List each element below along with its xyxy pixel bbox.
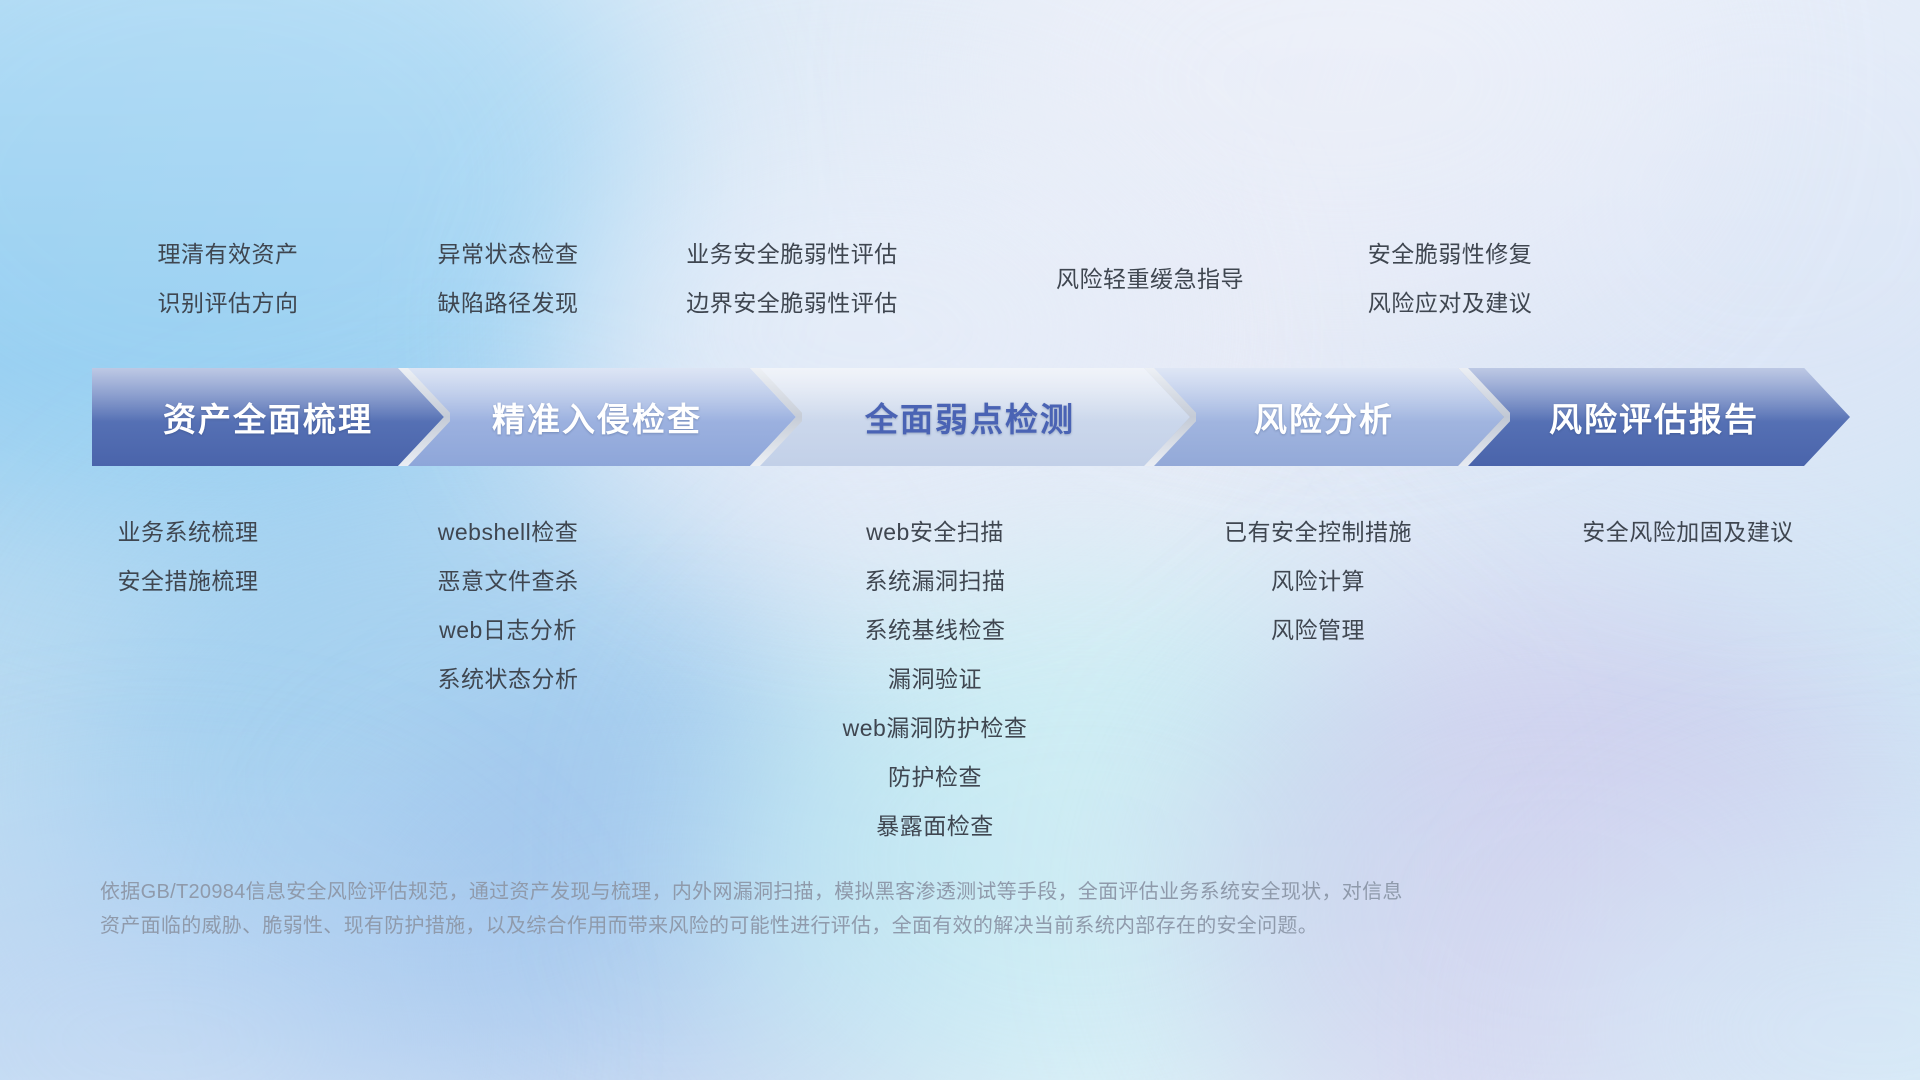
bottom-list-item: 防护检查	[785, 753, 1085, 802]
process-step-label: 资产全面梳理	[92, 393, 444, 441]
footnote-line: 依据GB/T20984信息安全风险评估规范，通过资产发现与梳理，内外网漏洞扫描，…	[100, 875, 1660, 909]
footnote-line: 资产面临的威胁、脆弱性、现有防护措施，以及综合作用而带来风险的可能性进行评估，全…	[100, 909, 1660, 943]
footnote: 依据GB/T20984信息安全风险评估规范，通过资产发现与梳理，内外网漏洞扫描，…	[100, 875, 1660, 943]
top-list-item: 风险应对及建议	[1300, 279, 1600, 328]
bottom-list-item: 恶意文件查杀	[358, 557, 658, 606]
bottom-list-item: 业务系统梳理	[38, 508, 338, 557]
bottom-list-risk-report: 安全风险加固及建议	[1538, 508, 1838, 557]
bottom-list-item: 暴露面检查	[785, 802, 1085, 851]
slide-canvas: 理清有效资产识别评估方向 异常状态检查缺陷路径发现 业务安全脆弱性评估边界安全脆…	[0, 0, 1920, 1080]
bottom-list-item: 系统状态分析	[358, 655, 658, 704]
process-step-label: 风险评估报告	[1458, 393, 1850, 441]
process-arrow-band: 资产全面梳理 精准入侵检查 全面弱点检测 风险分析	[92, 368, 1850, 466]
bottom-list-item: 已有安全控制措施	[1168, 508, 1468, 557]
bottom-list-weakness-detection: web安全扫描系统漏洞扫描系统基线检查漏洞验证web漏洞防护检查防护检查暴露面检…	[785, 508, 1085, 851]
top-list-item: 异常状态检查	[358, 230, 658, 279]
top-list-item: 业务安全脆弱性评估	[642, 230, 942, 279]
process-step-weakness-detection[interactable]: 全面弱点检测	[750, 368, 1190, 466]
process-step-label: 风险分析	[1144, 393, 1504, 441]
bottom-list-risk-analysis: 已有安全控制措施风险计算风险管理	[1168, 508, 1468, 655]
process-step-label: 精准入侵检查	[398, 393, 796, 441]
bottom-list-item: 风险计算	[1168, 557, 1468, 606]
bottom-list-item: web漏洞防护检查	[785, 704, 1085, 753]
process-step-asset-inventory[interactable]: 资产全面梳理	[92, 368, 444, 466]
bottom-list-intrusion-check: webshell检查恶意文件查杀web日志分析系统状态分析	[358, 508, 658, 704]
bottom-list-item: web日志分析	[358, 606, 658, 655]
bottom-list-item: webshell检查	[358, 508, 658, 557]
top-list-item: 安全脆弱性修复	[1300, 230, 1600, 279]
bottom-list-item: 系统基线检查	[785, 606, 1085, 655]
bottom-list-asset-inventory: 业务系统梳理安全措施梳理	[38, 508, 338, 606]
bottom-list-item: 漏洞验证	[785, 655, 1085, 704]
top-list-item: 理清有效资产	[78, 230, 378, 279]
process-step-label: 全面弱点检测	[750, 393, 1190, 441]
top-list-intrusion-check: 异常状态检查缺陷路径发现	[358, 230, 658, 328]
top-list-risk-analysis: 风险轻重缓急指导	[1000, 255, 1300, 304]
top-list-item: 边界安全脆弱性评估	[642, 279, 942, 328]
top-list-asset-inventory: 理清有效资产识别评估方向	[78, 230, 378, 328]
bottom-list-item: 风险管理	[1168, 606, 1468, 655]
process-step-risk-report[interactable]: 风险评估报告	[1458, 368, 1850, 466]
process-diagram: 理清有效资产识别评估方向 异常状态检查缺陷路径发现 业务安全脆弱性评估边界安全脆…	[0, 0, 1920, 1080]
top-list-item: 缺陷路径发现	[358, 279, 658, 328]
process-step-intrusion-check[interactable]: 精准入侵检查	[398, 368, 796, 466]
top-list-weakness-detection: 业务安全脆弱性评估边界安全脆弱性评估	[642, 230, 942, 328]
bottom-list-item: 系统漏洞扫描	[785, 557, 1085, 606]
top-list-item: 识别评估方向	[78, 279, 378, 328]
top-list-risk-report: 安全脆弱性修复风险应对及建议	[1300, 230, 1600, 328]
bottom-list-item: 安全风险加固及建议	[1538, 508, 1838, 557]
process-step-risk-analysis[interactable]: 风险分析	[1144, 368, 1504, 466]
top-list-item: 风险轻重缓急指导	[1000, 255, 1300, 304]
bottom-list-item: web安全扫描	[785, 508, 1085, 557]
bottom-list-item: 安全措施梳理	[38, 557, 338, 606]
